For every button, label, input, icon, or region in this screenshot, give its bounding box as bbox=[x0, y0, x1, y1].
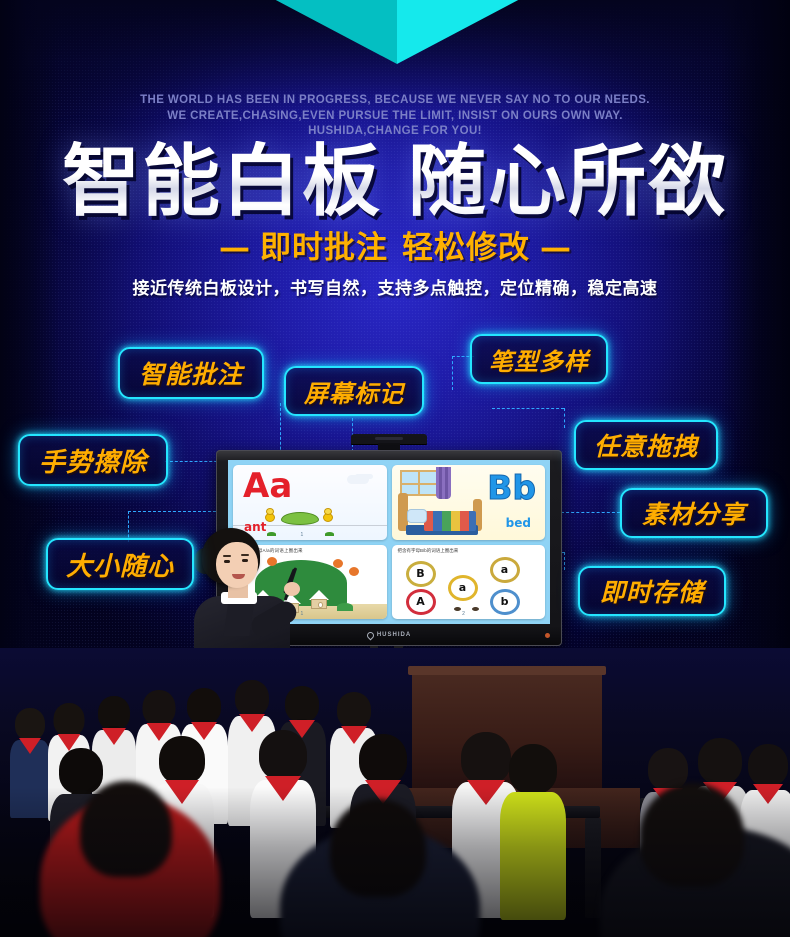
letter-circle: b bbox=[490, 589, 520, 615]
brand-name: HUSHIDA bbox=[377, 632, 411, 638]
feature-label-screen-marking[interactable]: 屏幕标记 bbox=[284, 366, 424, 416]
presenter-hand bbox=[284, 582, 300, 596]
card-caption: 把含有字母B/b的词语上圈出来 bbox=[398, 548, 459, 554]
strapline-line-2: WE CREATE,CHASING,EVEN PURSUE THE LIMIT,… bbox=[0, 109, 790, 125]
chevron-right-half bbox=[397, 0, 522, 64]
page-subtitle: —即时批注轻松修改— bbox=[0, 229, 790, 267]
house-icon bbox=[309, 590, 329, 609]
feature-label-size-freedom[interactable]: 大小随心 bbox=[46, 538, 194, 590]
strapline-line-1: THE WORLD HAS BEEN IN PROGRESS, BECAUSE … bbox=[0, 93, 790, 109]
chevron-down-icon bbox=[272, 0, 522, 64]
subtitle-part-2: 轻松修改 bbox=[402, 230, 530, 266]
english-strapline: THE WORLD HAS BEEN IN PROGRESS, BECAUSE … bbox=[0, 93, 790, 140]
letter-circle: B bbox=[406, 561, 436, 587]
page-title: 智能白板随心所欲 bbox=[0, 141, 790, 223]
presenter-eyebrow bbox=[241, 554, 249, 556]
feature-label-text: 大小随心 bbox=[66, 546, 174, 583]
feature-label-text: 手势擦除 bbox=[39, 442, 147, 479]
card-page-number: 2 bbox=[462, 611, 465, 617]
ant-mini-icon bbox=[454, 607, 461, 611]
letter-circle: A bbox=[406, 589, 436, 615]
feature-label-gesture-erase[interactable]: 手势擦除 bbox=[18, 434, 168, 486]
feature-label-smart-annotation[interactable]: 智能批注 bbox=[118, 347, 264, 399]
ant-mini-icon bbox=[472, 607, 479, 611]
bush-shape bbox=[337, 603, 353, 611]
letter-circle: a bbox=[490, 557, 520, 583]
classroom-audience bbox=[0, 648, 790, 937]
bed-icon bbox=[398, 501, 482, 535]
ant-icon bbox=[321, 508, 335, 524]
sprout-shape bbox=[325, 532, 334, 536]
title-part-1: 智能白板 bbox=[62, 137, 382, 227]
whiteboard-card-bb[interactable]: Bb bed bbox=[392, 465, 546, 540]
feature-label-text: 素材分享 bbox=[642, 495, 746, 531]
brand-logo-icon bbox=[365, 630, 375, 640]
cloud-icon bbox=[347, 475, 369, 484]
product-poster: THE WORLD HAS BEEN IN PROGRESS, BECAUSE … bbox=[0, 0, 790, 937]
subtitle-dash-left: — bbox=[209, 230, 260, 266]
card-word: bed bbox=[506, 516, 531, 530]
presenter-lapel bbox=[223, 600, 254, 636]
feature-label-free-drag[interactable]: 任意拖拽 bbox=[574, 420, 718, 470]
letter-circle: a bbox=[448, 575, 478, 601]
feature-label-text: 笔型多样 bbox=[489, 342, 589, 377]
card-page-number: 1 bbox=[301, 611, 304, 617]
feature-label-text: 任意拖拽 bbox=[594, 427, 698, 463]
card-letter: Bb bbox=[487, 471, 536, 504]
foreground-shade bbox=[0, 787, 790, 937]
feature-label-material-share[interactable]: 素材分享 bbox=[620, 488, 768, 538]
fruit-icon bbox=[349, 567, 359, 576]
curtain-icon bbox=[436, 467, 451, 499]
leaf-shape bbox=[281, 512, 319, 525]
presenter-eyebrow bbox=[223, 555, 231, 557]
title-part-2: 随心所欲 bbox=[408, 137, 728, 227]
page-description: 接近传统白板设计，书写自然，支持多点触控，定位精确，稳定高速 bbox=[0, 274, 790, 299]
feature-label-instant-save[interactable]: 即时存储 bbox=[578, 566, 726, 616]
feature-label-pen-variety[interactable]: 笔型多样 bbox=[470, 334, 608, 384]
subtitle-part-1: 即时批注 bbox=[260, 230, 388, 266]
card-letter: Aa bbox=[243, 469, 292, 503]
chevron-left-half bbox=[272, 0, 397, 64]
fruit-icon bbox=[333, 559, 343, 568]
presenter-face bbox=[216, 542, 258, 588]
power-led-icon bbox=[545, 633, 550, 638]
feature-label-text: 屏幕标记 bbox=[304, 374, 404, 409]
whiteboard-card-circles[interactable]: 把含有字母B/b的词语上圈出来 B A a a b 2 bbox=[392, 545, 546, 620]
subtitle-dash-right: — bbox=[530, 230, 581, 266]
card-page-number: 1 bbox=[301, 532, 304, 538]
presenter-eye bbox=[242, 559, 248, 562]
feature-label-text: 智能批注 bbox=[139, 355, 243, 391]
feature-label-text: 即时存储 bbox=[600, 573, 704, 609]
presenter-eye bbox=[224, 560, 230, 563]
